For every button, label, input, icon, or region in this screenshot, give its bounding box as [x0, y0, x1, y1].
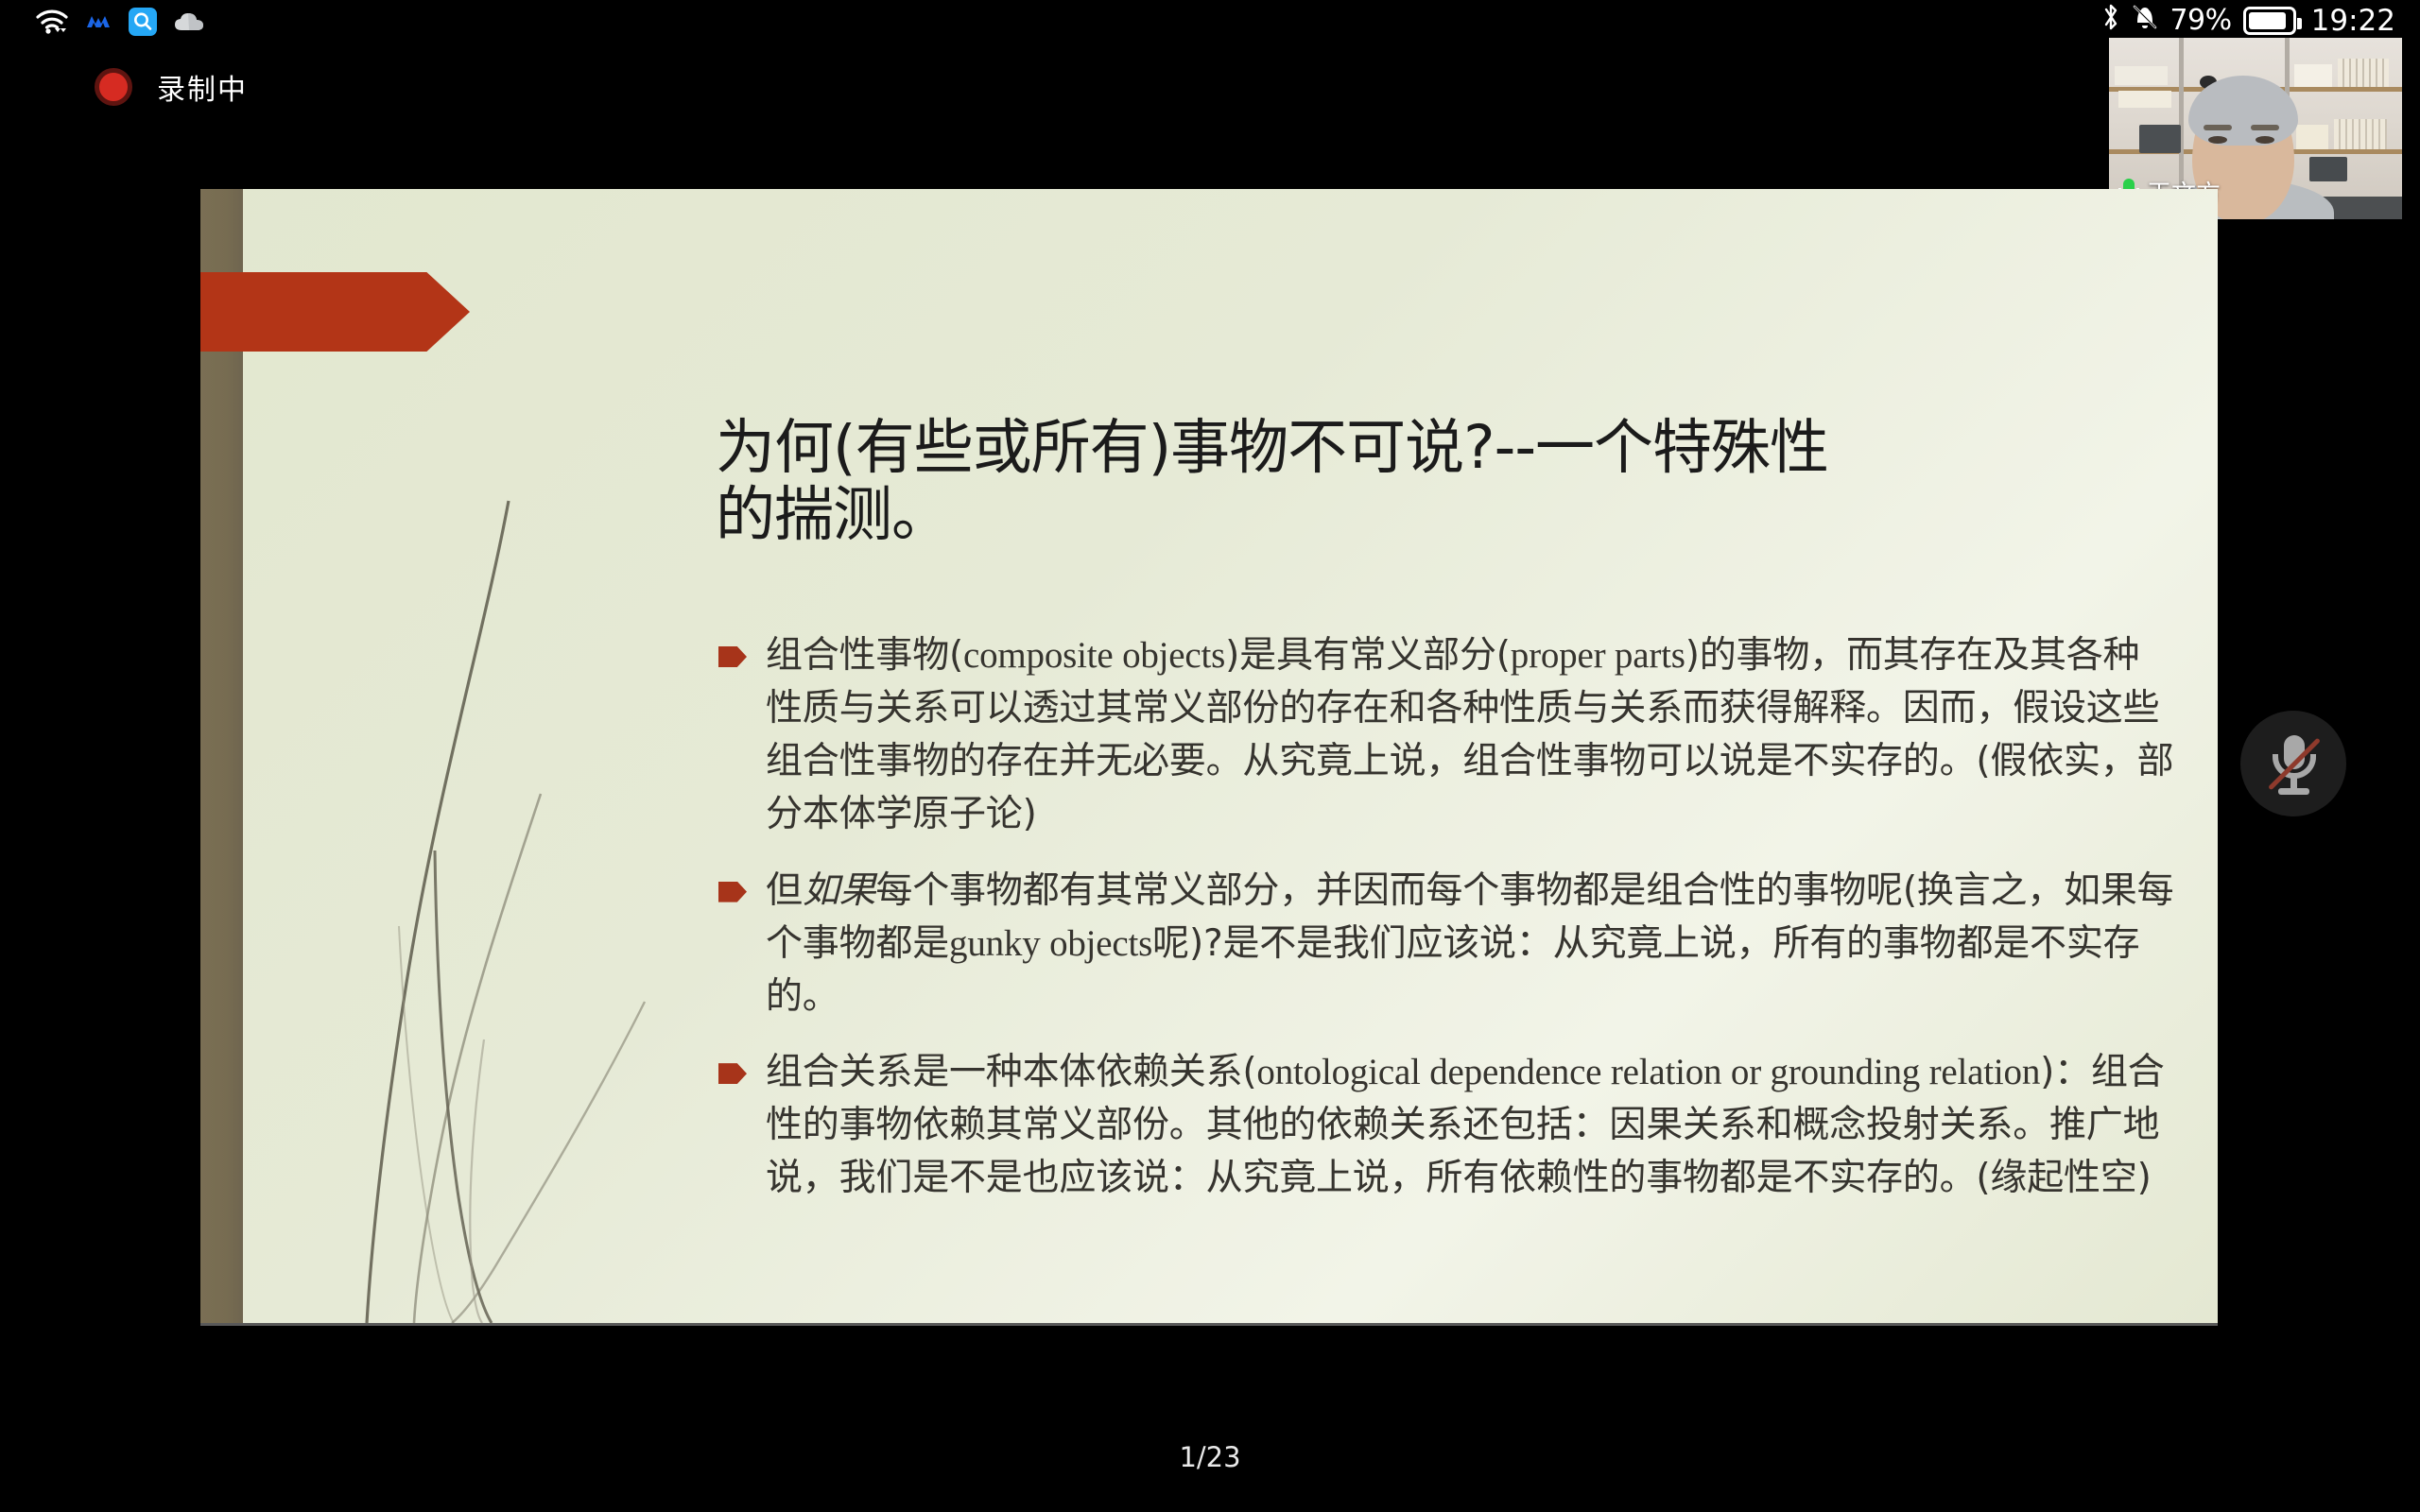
slide-bullet: 组合关系是一种本体依赖关系(ontological dependence rel…: [718, 1046, 2174, 1205]
slide-bullet: 组合性事物(composite objects)是具有常义部分(proper p…: [718, 629, 2174, 842]
person-eye: [2256, 136, 2274, 144]
recording-label: 录制中: [157, 66, 248, 108]
bullet-marker-icon: [718, 1063, 747, 1084]
bluetooth-icon: [2101, 2, 2120, 39]
bell-muted-icon: [2132, 3, 2158, 38]
mic-base: [2278, 788, 2309, 795]
status-bar: 79% 19:22: [2101, 2, 2395, 39]
books: [2338, 59, 2389, 87]
slide-title-line-1: 为何(有些或所有)事物不可说?--一个特殊性: [716, 414, 2162, 481]
bullet-text-run: 组合关系是一种本体依赖关系(: [766, 1051, 1256, 1093]
slide-bullet-text: 但如果每个事物都有其常义部分，并因而每个事物都是组合性的事物呢(换言之，如果每个…: [766, 865, 2174, 1023]
books: [2294, 64, 2332, 87]
slide-title: 为何(有些或所有)事物不可说?--一个特殊性 的揣测。: [716, 414, 2162, 548]
bullet-text-run: composite objects: [963, 635, 1225, 676]
bullet-text-run: 组合性事物(: [766, 634, 963, 677]
bullet-text-run: gunky objects: [949, 923, 1152, 964]
bullet-text-run: )是具有常义部分(: [1225, 634, 1511, 677]
slide-title-line-2: 的揣测。: [716, 481, 2162, 548]
person-brow: [2251, 125, 2279, 130]
slide-bullet-text: 组合关系是一种本体依赖关系(ontological dependence rel…: [766, 1046, 2174, 1205]
books: [2296, 125, 2328, 149]
bullet-text-run: proper parts: [1511, 635, 1685, 676]
slide-bullet-text: 组合性事物(composite objects)是具有常义部分(proper p…: [766, 629, 2174, 842]
slide-left-stripe: [200, 189, 243, 1323]
slide-bullet: 但如果每个事物都有其常义部分，并因而每个事物都是组合性的事物呢(换言之，如果每个…: [718, 865, 2174, 1023]
bullet-text-run: ontological dependence relation or groun…: [1256, 1052, 2040, 1092]
microphone-muted-button[interactable]: [2240, 711, 2346, 816]
recording-indicator: 录制中: [95, 66, 248, 108]
spotlight-search-icon[interactable]: [129, 8, 157, 41]
bullet-marker-icon: [718, 882, 747, 902]
bullet-marker-icon: [718, 646, 747, 667]
person-eye: [2208, 136, 2227, 144]
books: [2115, 66, 2168, 85]
presentation-slide[interactable]: 为何(有些或所有)事物不可说?--一个特殊性 的揣测。 组合性事物(compos…: [200, 189, 2218, 1323]
cloud-icon[interactable]: [174, 11, 204, 37]
app-m-icon[interactable]: [85, 12, 112, 36]
page-indicator: 1/23: [0, 1441, 2420, 1473]
bullet-text-run: 如果: [803, 869, 876, 912]
person-brow: [2204, 125, 2232, 130]
monitor: [2139, 125, 2181, 153]
wifi-icon[interactable]: [36, 9, 68, 39]
record-dot-icon: [95, 68, 132, 106]
monitor: [2309, 157, 2347, 181]
books: [2334, 119, 2387, 149]
books: [2118, 91, 2171, 108]
slide-bullet-list: 组合性事物(composite objects)是具有常义部分(proper p…: [718, 629, 2174, 1228]
system-tray: [36, 6, 204, 42]
battery-icon: [2243, 7, 2296, 35]
grass-decoration: [200, 189, 730, 1323]
bullet-text-run: 但: [766, 869, 803, 912]
title-arrow-decoration: [200, 272, 470, 352]
clock: 19:22: [2311, 4, 2395, 38]
battery-percent: 79%: [2169, 4, 2231, 37]
